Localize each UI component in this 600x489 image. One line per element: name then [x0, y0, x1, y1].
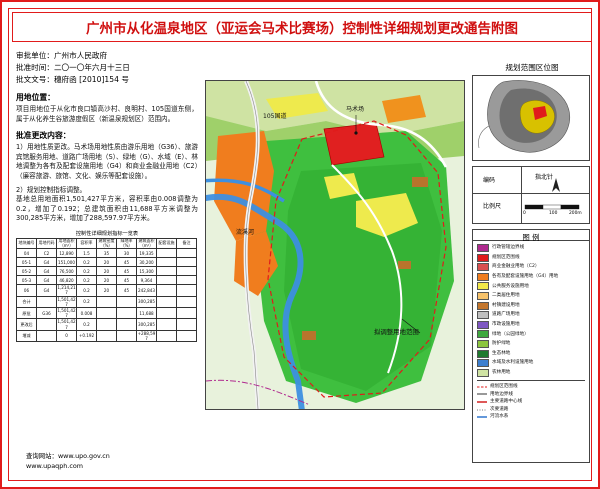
cell — [177, 267, 197, 276]
cell: 0.2 — [77, 296, 97, 307]
cell: 12,890 — [57, 249, 77, 258]
table-row: 合计 1,501,427 0.2 300,285 — [17, 296, 197, 307]
legend-swatch — [477, 359, 489, 367]
location-map-graphic — [473, 76, 589, 160]
cell: +288,597 — [137, 330, 157, 341]
cell: G4 — [37, 285, 57, 296]
legend-label: 规划区范围线 — [490, 384, 518, 390]
legend-item: 规划区范围线 — [477, 254, 585, 262]
legend-label: 生态林地 — [492, 351, 510, 357]
index-table-wrap: 控制性详细规划指标一览表 地块编号 用地代码 用地面积（m²） 容积率 建筑密度… — [16, 230, 198, 342]
cell — [117, 319, 137, 330]
legend-line-swatch — [477, 399, 487, 405]
cell: 151,000 — [57, 258, 77, 267]
legend-label: 商业金融业用地（C2） — [492, 264, 539, 270]
cell: 1.5 — [77, 249, 97, 258]
index-table-caption: 控制性详细规划指标一览表 — [16, 230, 198, 237]
legend-panel: 图 例 行政管辖边界线 规划区范围线 商业金融业用地（C2） 各有及配套设施用地… — [472, 229, 590, 463]
legend-line-item: 次要道路 — [477, 407, 585, 413]
cell: 45 — [117, 276, 137, 285]
legend-label: 绿地（公园绿地） — [492, 332, 529, 338]
table-row: 增减 0 +0.192 +288,597 — [17, 330, 197, 341]
landuse-heading: 用地位置： — [16, 92, 198, 103]
cell: 300,285 — [137, 296, 157, 307]
cell: 19,335 — [137, 249, 157, 258]
cell: 45 — [117, 267, 137, 276]
table-row: 06 G4 1,214,217 0.2 20 45 242,843 — [17, 285, 197, 296]
cell: +0.192 — [77, 330, 97, 341]
legend-label: 规划区范围线 — [492, 255, 520, 261]
legend-swatch — [477, 244, 489, 252]
cell — [177, 307, 197, 318]
legend-line-item: 用地边界线 — [477, 391, 585, 397]
cell: 更改后 — [17, 319, 37, 330]
cell — [97, 296, 117, 307]
col-8: 备注 — [177, 238, 197, 248]
legend-item: 绿地（公园绿地） — [477, 330, 585, 338]
main-map: 105国道 流溪河 马术场 拟调整用地范围 — [205, 80, 465, 410]
legend-swatch — [477, 369, 489, 377]
col-0: 地块编号 — [17, 238, 37, 248]
cell — [177, 285, 197, 296]
cell: 1,501,427 — [57, 296, 77, 307]
legend-item: 道路广场用地 — [477, 311, 585, 319]
index-table: 地块编号 用地代码 用地面积（m²） 容积率 建筑密度（%） 绿地率（%） 建筑… — [16, 238, 197, 342]
approve-unit: 审批单位：广州市人民政府 — [16, 50, 198, 62]
cell: 20 — [97, 267, 117, 276]
cell: 30,200 — [137, 258, 157, 267]
cell: 1,501,427 — [57, 307, 77, 318]
poster-page: 广州市从化温泉地区（亚运会马术比赛场）控制性详细规划更改通告附图 审批单位：广州… — [0, 0, 600, 489]
col-1: 用地代码 — [37, 238, 57, 248]
index-table-header-row: 地块编号 用地代码 用地面积（m²） 容积率 建筑密度（%） 绿地率（%） 建筑… — [17, 238, 197, 248]
location-map — [472, 75, 590, 161]
cell: 0.2 — [77, 285, 97, 296]
cell: C2 — [37, 249, 57, 258]
scale-tick-0: 0 — [523, 211, 526, 216]
cell: 04 — [17, 249, 37, 258]
col-2: 用地面积（m²） — [57, 238, 77, 248]
cell: 0.008 — [77, 307, 97, 318]
legend-item: 生态林地 — [477, 350, 585, 358]
cell: 46,820 — [57, 276, 77, 285]
url-secondary: www.upaqph.com — [26, 461, 110, 471]
location-map-title: 规划范围区位图 — [472, 62, 592, 73]
legend-divider — [477, 380, 585, 381]
cell: 45 — [117, 258, 137, 267]
cell — [157, 267, 177, 276]
cell: G4 — [37, 258, 57, 267]
legend-line-item: 主要道路中心线 — [477, 399, 585, 405]
cell: 300,285 — [137, 319, 157, 330]
cell: 05-2 — [17, 267, 37, 276]
legend-label: 道路广场用地 — [492, 312, 520, 318]
cell: 20 — [97, 285, 117, 296]
change-item-1: 1）用地性质更改。马术场用地性质由游乐用地（G36）、旅游宾馆服务用地、道路广场… — [16, 143, 198, 181]
cell: 05-1 — [17, 258, 37, 267]
cell: 45 — [117, 285, 137, 296]
cell: 0.2 — [77, 319, 97, 330]
legend-list: 行政管辖边界线 规划区范围线 商业金融业用地（C2） 各有及配套设施用地（G4）… — [473, 241, 589, 420]
index-table-body: 04 C2 12,890 1.5 35 30 19,335 05-1 G4 15… — [17, 249, 197, 342]
legend-swatch — [477, 302, 489, 310]
legend-swatch — [477, 273, 489, 281]
legend-swatch — [477, 311, 489, 319]
table-row: 05-2 G4 76,500 0.2 20 45 15,300 — [17, 267, 197, 276]
legend-item: 村镇建设用地 — [477, 302, 585, 310]
cell: 06 — [17, 285, 37, 296]
legend-label: 二类居住用地 — [492, 293, 520, 299]
cell — [177, 258, 197, 267]
code-label: 编码 — [483, 175, 495, 184]
cell: 原批 — [17, 307, 37, 318]
landuse-text: 项目用地位于从化市良口镇高沙村、良明村、105国道东侧，属于从化养生谷旅游度假区… — [16, 105, 198, 124]
cell — [157, 276, 177, 285]
cell: 76,500 — [57, 267, 77, 276]
cell — [37, 330, 57, 341]
map-label-scope: 拟调整用地范围 — [374, 327, 419, 336]
scale-label: 比例尺 — [483, 201, 501, 210]
col-7: 配套设施 — [157, 238, 177, 248]
legend-label: 市政设施用地 — [492, 322, 520, 328]
legend-swatch — [477, 254, 489, 262]
table-row: 05-1 G4 151,000 0.2 20 45 30,200 — [17, 258, 197, 267]
legend-swatch — [477, 330, 489, 338]
legend-title: 图 例 — [473, 230, 589, 241]
cell — [177, 249, 197, 258]
legend-item: 市政设施用地 — [477, 321, 585, 329]
legend-swatch — [477, 263, 489, 271]
cell: 9,364 — [137, 276, 157, 285]
legend-line-swatch — [477, 384, 487, 390]
cell — [177, 296, 197, 307]
map-label-road: 105国道 — [263, 111, 286, 120]
cell — [157, 296, 177, 307]
legend-label: 各有及配套设施用地（G4）用地 — [492, 274, 558, 280]
page-title: 广州市从化温泉地区（亚运会马术比赛场）控制性详细规划更改通告附图 — [86, 17, 518, 37]
cell — [117, 296, 137, 307]
table-row: 04 C2 12,890 1.5 35 30 19,335 — [17, 249, 197, 258]
cell — [117, 307, 137, 318]
cell: 35 — [97, 249, 117, 258]
scale-tick-100: 100 — [549, 211, 557, 216]
cell: G4 — [37, 276, 57, 285]
legend-item: 水域及水利设施用地 — [477, 359, 585, 367]
legend-line-item: 规划区范围线 — [477, 384, 585, 390]
legend-swatch — [477, 321, 489, 329]
legend-label: 用地边界线 — [490, 392, 513, 398]
change-item-2: 2）规划控制指标调整。 — [16, 186, 198, 196]
col-5: 绿地率（%） — [117, 238, 137, 248]
legend-item: 防护绿地 — [477, 340, 585, 348]
legend-label: 公共服务设施用地 — [492, 284, 529, 290]
legend-label: 防护绿地 — [492, 341, 510, 347]
cell: 30 — [117, 249, 137, 258]
table-row: 更改后 1,501,427 0.2 300,285 — [17, 319, 197, 330]
north-arrow-icon — [547, 177, 565, 193]
cell — [157, 249, 177, 258]
legend-item: 公共服务设施用地 — [477, 282, 585, 290]
legend-swatch — [477, 282, 489, 290]
map-label-site: 马术场 — [346, 104, 364, 113]
cell: 11,688 — [137, 307, 157, 318]
cell: 0.2 — [77, 258, 97, 267]
legend-swatch — [477, 350, 489, 358]
cell: 15,300 — [137, 267, 157, 276]
cell: 增减 — [17, 330, 37, 341]
cell — [97, 307, 117, 318]
col-3: 容积率 — [77, 238, 97, 248]
map-graphic — [206, 81, 464, 409]
legend-item: 二类居住用地 — [477, 292, 585, 300]
legend-swatch — [477, 292, 489, 300]
cell: 1,214,217 — [57, 285, 77, 296]
cell — [97, 319, 117, 330]
map-label-stream: 流溪河 — [236, 227, 254, 236]
cell — [97, 330, 117, 341]
legend-label: 村镇建设用地 — [492, 303, 520, 309]
legend-line-swatch — [477, 407, 487, 413]
cell: 20 — [97, 258, 117, 267]
cell — [157, 258, 177, 267]
cell — [157, 285, 177, 296]
scale-north-box: 编码 指北针 比例尺 0 100 200m — [472, 166, 590, 224]
cell — [37, 319, 57, 330]
legend-swatch — [477, 340, 489, 348]
cell: 0.2 — [77, 276, 97, 285]
change-heading: 批准更改内容： — [16, 130, 198, 141]
cell — [157, 319, 177, 330]
legend-item: 各有及配套设施用地（G4）用地 — [477, 273, 585, 281]
footer-urls: 查询网站：www.upo.gov.cn www.upaqph.com — [26, 451, 110, 471]
change-item-2-text: 基地总用地面积1,501,427平方米，容积率由0.008调整为0.2，增加了0… — [16, 195, 198, 224]
legend-label: 次要道路 — [490, 407, 508, 413]
legend-label: 水域及水利设施用地 — [492, 360, 533, 366]
cell — [157, 307, 177, 318]
legend-item: 行政管辖边界线 — [477, 244, 585, 252]
cell — [177, 276, 197, 285]
cell: G36 — [37, 307, 57, 318]
cell: 1,501,427 — [57, 319, 77, 330]
col-4: 建筑密度（%） — [97, 238, 117, 248]
cell: 242,843 — [137, 285, 157, 296]
cell: 合计 — [17, 296, 37, 307]
legend-line-swatch — [477, 391, 487, 397]
cell — [157, 330, 177, 341]
cell — [177, 319, 197, 330]
col-6: 建筑面积（m²） — [137, 238, 157, 248]
cell — [117, 330, 137, 341]
url-primary: 查询网站：www.upo.gov.cn — [26, 451, 110, 461]
cell: 20 — [97, 276, 117, 285]
cell — [37, 296, 57, 307]
table-row: 05-3 G4 46,820 0.2 20 45 9,364 — [17, 276, 197, 285]
cell: 0 — [57, 330, 77, 341]
cell — [177, 330, 197, 341]
legend-label: 河流水系 — [490, 414, 508, 420]
legend-label: 行政管辖边界线 — [492, 245, 524, 251]
legend-item: 商业金融业用地（C2） — [477, 263, 585, 271]
left-text-column: 审批单位：广州市人民政府 批准时间：二〇一〇年六月十三日 批文文号：穗府函 [2… — [16, 50, 198, 470]
cell: 0.2 — [77, 267, 97, 276]
right-column: 规划范围区位图 编码 指北针 比例尺 — [472, 62, 592, 463]
table-row: 原批 G36 1,501,427 0.008 11,688 — [17, 307, 197, 318]
legend-item: 农林用地 — [477, 369, 585, 377]
approve-time: 批准时间：二〇一〇年六月十三日 — [16, 62, 198, 74]
scale-tick-200: 200m — [569, 211, 582, 216]
legend-line-swatch — [477, 414, 487, 420]
cell: 05-3 — [17, 276, 37, 285]
legend-label: 农林用地 — [492, 370, 510, 376]
legend-line-item: 河流水系 — [477, 414, 585, 420]
approve-number: 批文文号：穗府函 [2010]154 号 — [16, 74, 198, 86]
cell: G4 — [37, 267, 57, 276]
title-bar: 广州市从化温泉地区（亚运会马术比赛场）控制性详细规划更改通告附图 — [12, 12, 592, 42]
legend-label: 主要道路中心线 — [490, 399, 522, 405]
